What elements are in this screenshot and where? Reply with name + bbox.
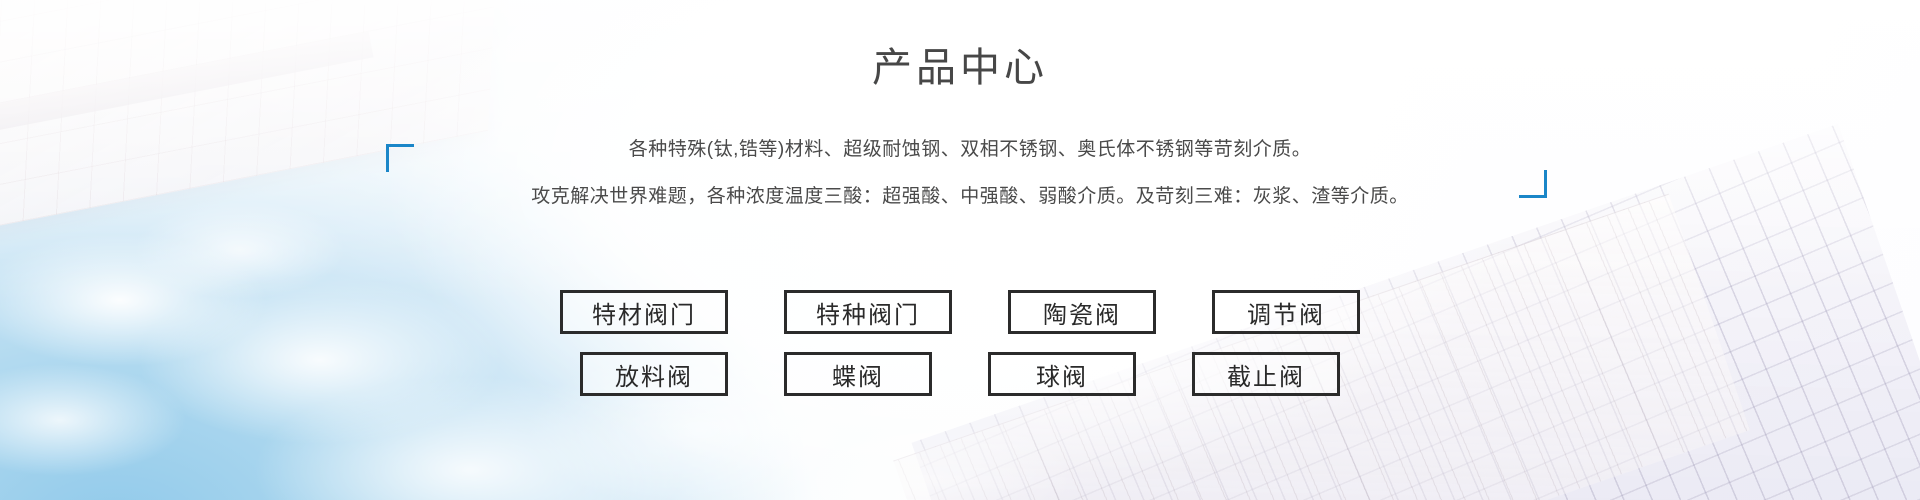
category-button-特材阀门[interactable]: 特材阀门 bbox=[560, 290, 728, 334]
description-line-2: 攻克解决世界难题，各种浓度温度三酸：超强酸、中强酸、弱酸介质。及苛刻三难：灰浆、… bbox=[380, 187, 1560, 206]
category-button-球阀[interactable]: 球阀 bbox=[988, 352, 1136, 396]
category-button-陶瓷阀[interactable]: 陶瓷阀 bbox=[1008, 290, 1156, 334]
category-button-特种阀门[interactable]: 特种阀门 bbox=[784, 290, 952, 334]
category-button-放料阀[interactable]: 放料阀 bbox=[580, 352, 728, 396]
category-button-蝶阀[interactable]: 蝶阀 bbox=[784, 352, 932, 396]
category-button-调节阀[interactable]: 调节阀 bbox=[1212, 290, 1360, 334]
hero-content: 产品中心 各种特殊(钛,锆等)材料、超级耐蚀钢、双相不锈钢、奥氏体不锈钢等苛刻介… bbox=[0, 0, 1920, 500]
product-category-row-2: 放料阀蝶阀球阀截止阀 bbox=[580, 352, 1340, 396]
product-category-row-1: 特材阀门特种阀门陶瓷阀调节阀 bbox=[560, 290, 1360, 334]
description-line-1: 各种特殊(钛,锆等)材料、超级耐蚀钢、双相不锈钢、奥氏体不锈钢等苛刻介质。 bbox=[380, 140, 1560, 159]
page-title: 产品中心 bbox=[0, 48, 1920, 88]
category-button-截止阀[interactable]: 截止阀 bbox=[1192, 352, 1340, 396]
product-category-grid: 特材阀门特种阀门陶瓷阀调节阀 放料阀蝶阀球阀截止阀 bbox=[0, 290, 1920, 396]
description-block: 各种特殊(钛,锆等)材料、超级耐蚀钢、双相不锈钢、奥氏体不锈钢等苛刻介质。 攻克… bbox=[380, 140, 1560, 206]
